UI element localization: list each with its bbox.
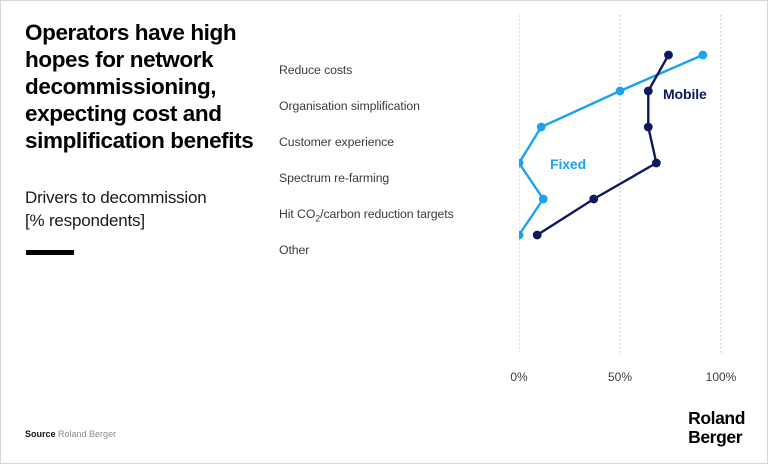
brand-logo-line1: Roland	[688, 409, 745, 428]
x-tick-label-2: 100%	[706, 370, 737, 384]
source-value: Roland Berger	[58, 429, 116, 439]
source-note: Source Roland Berger	[25, 429, 116, 439]
brand-logo: Roland Berger	[688, 409, 745, 447]
chart-svg	[519, 15, 749, 405]
brand-logo-line2: Berger	[688, 428, 745, 447]
category-label-3: Spectrum re-farming	[279, 171, 389, 185]
x-tick-label-1: 50%	[608, 370, 632, 384]
series-line-fixed	[519, 55, 703, 235]
data-point-mobile-3[interactable]	[652, 159, 661, 168]
data-point-fixed-2[interactable]	[537, 123, 546, 132]
data-point-mobile-4[interactable]	[589, 195, 598, 204]
data-point-mobile-5[interactable]	[533, 231, 542, 240]
series-line-mobile	[537, 55, 668, 235]
data-point-mobile-2[interactable]	[644, 123, 653, 132]
data-point-fixed-3[interactable]	[519, 159, 523, 168]
data-point-mobile-0[interactable]	[664, 51, 673, 60]
data-point-fixed-5[interactable]	[519, 231, 523, 240]
slide-root: Operators have high hopes for network de…	[0, 0, 768, 464]
category-axis-labels: Reduce costs Organisation simplification…	[271, 15, 519, 275]
category-label-1: Organisation simplification	[279, 99, 420, 113]
data-point-fixed-0[interactable]	[698, 51, 707, 60]
chart-subtitle-line2: [% respondents]	[25, 209, 283, 232]
category-label-5: Other	[279, 243, 309, 257]
chart-subtitle: Drivers to decommission [% respondents]	[25, 186, 283, 232]
page-title: Operators have high hopes for network de…	[25, 19, 275, 154]
source-label: Source	[25, 429, 56, 439]
category-label-2: Customer experience	[279, 135, 394, 149]
series-label-mobile: Mobile	[663, 86, 707, 102]
series-label-fixed: Fixed	[550, 156, 586, 172]
plot-area: 0% 50% 100% Fixed Mobile	[519, 15, 749, 405]
chart-container: Reduce costs Organisation simplification…	[271, 15, 759, 405]
title-underline-rule	[26, 250, 74, 255]
chart-subtitle-line1: Drivers to decommission	[25, 186, 283, 209]
data-point-fixed-4[interactable]	[539, 195, 548, 204]
category-label-4: Hit CO2/carbon reduction targets	[279, 207, 454, 223]
x-tick-label-0: 0%	[510, 370, 527, 384]
category-label-0: Reduce costs	[279, 63, 352, 77]
data-point-fixed-1[interactable]	[616, 87, 625, 96]
data-point-mobile-1[interactable]	[644, 87, 653, 96]
